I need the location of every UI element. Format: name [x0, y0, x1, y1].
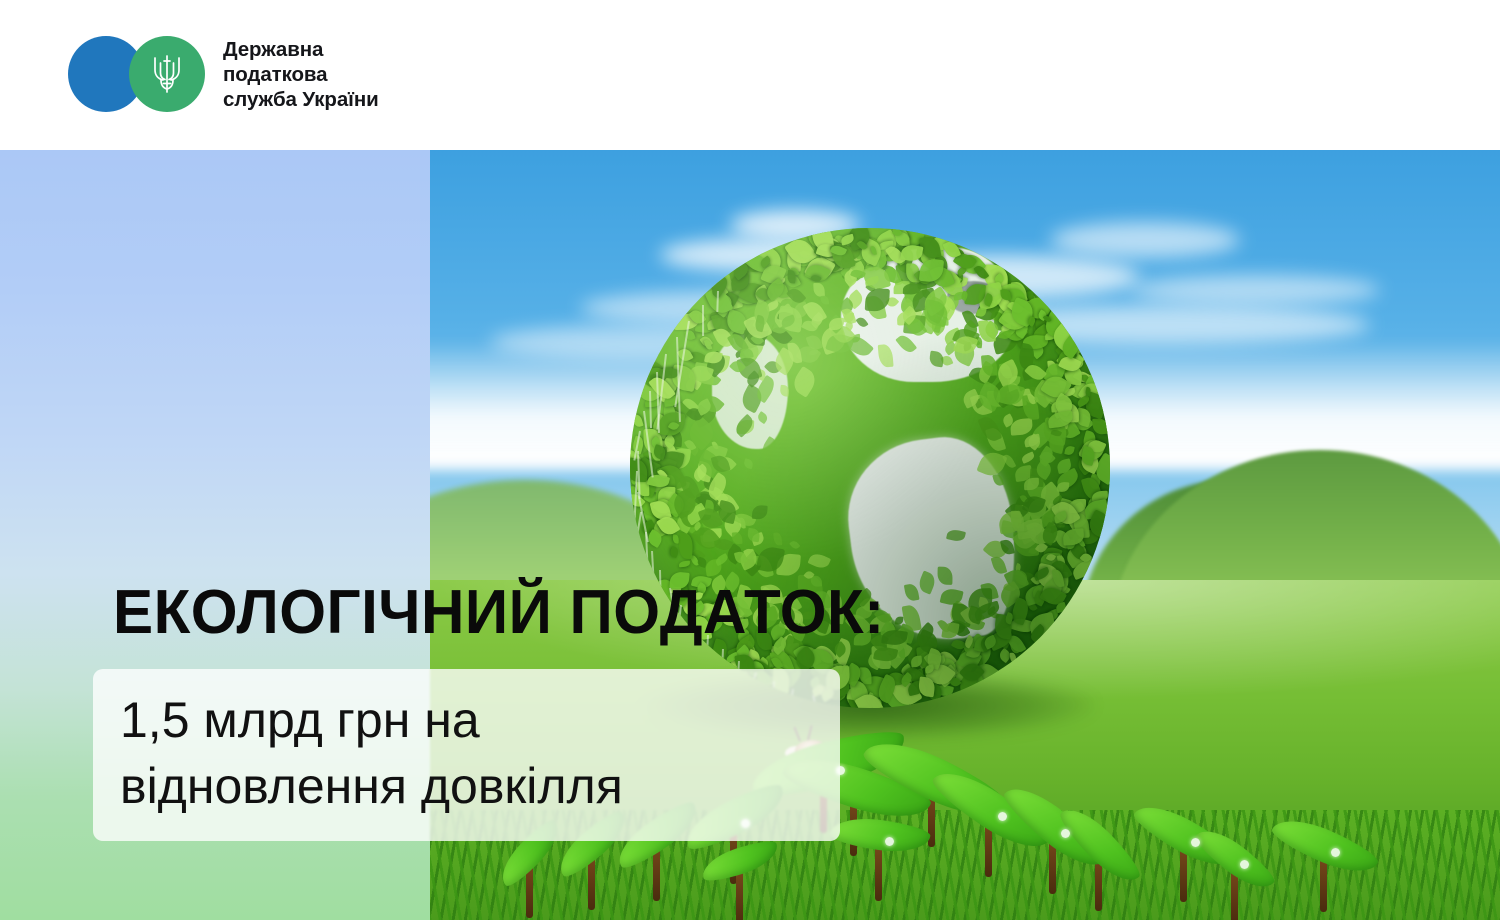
leaf-shape — [1021, 452, 1036, 464]
leaf-shape — [1011, 418, 1034, 435]
leaf-shape — [1055, 602, 1067, 613]
page-title: ЕКОЛОГІЧНИЙ ПОДАТОК: — [113, 580, 885, 646]
leaf-shape — [878, 344, 894, 369]
leaf-shape — [856, 315, 869, 329]
leaf-shape — [820, 295, 829, 305]
dew-drop — [1331, 848, 1340, 857]
logo-marks — [68, 36, 205, 112]
leaf-shape — [813, 282, 825, 296]
leaf-shape — [760, 436, 779, 457]
leaf-shape — [807, 551, 831, 572]
dew-drop — [885, 837, 894, 846]
leaf-shape — [895, 333, 917, 356]
leaf-shape — [917, 570, 938, 594]
leaf-shape — [929, 351, 945, 368]
leaf-shape — [756, 411, 769, 424]
leaf-shape — [992, 472, 1004, 486]
leaf-shape — [631, 413, 643, 428]
slide-canvas: Державна податкова служба України — [0, 0, 1500, 920]
leaf-shape — [991, 555, 1008, 575]
vine-strand — [702, 305, 704, 336]
agency-name: Державна податкова служба України — [223, 37, 379, 112]
dew-drop — [998, 812, 1007, 821]
leaf-shape — [752, 504, 768, 519]
green-circle-icon — [129, 36, 205, 112]
leaf-shape — [743, 458, 754, 469]
leaf-shape — [714, 554, 729, 567]
leaf-shape — [789, 539, 801, 551]
page-header: Державна податкова служба України — [0, 0, 1500, 150]
leaf-shape — [941, 622, 960, 640]
leaf-shape — [904, 583, 920, 602]
leaf-shape — [790, 366, 820, 398]
dew-drop — [1240, 860, 1249, 869]
leaf-shape — [779, 385, 790, 397]
vine-strand — [716, 291, 719, 312]
leaf-shape — [1064, 445, 1075, 456]
leaf-shape — [679, 560, 690, 567]
page-subtitle: 1,5 млрд грн на відновлення довкілля — [120, 687, 840, 819]
hero-image: ЕКОЛОГІЧНИЙ ПОДАТОК: 1,5 млрд грн на від… — [0, 150, 1500, 920]
leaf-shape — [787, 270, 796, 283]
cloud-shape — [1130, 275, 1380, 305]
leaf-shape — [773, 532, 782, 546]
leaf-shape — [678, 533, 693, 559]
agency-logo: Державна податкова служба України — [68, 36, 379, 112]
dew-drop — [1191, 838, 1200, 847]
leaf-shape — [865, 287, 891, 312]
leaf-shape — [1092, 418, 1108, 435]
leaf-shape — [937, 566, 953, 585]
leaf-shape — [1010, 652, 1016, 663]
dew-drop — [1061, 829, 1070, 838]
leaf-shape — [946, 528, 966, 543]
leaf-shape — [746, 527, 760, 542]
leaf-shape — [978, 413, 1003, 443]
ukraine-trident-icon — [150, 52, 184, 96]
